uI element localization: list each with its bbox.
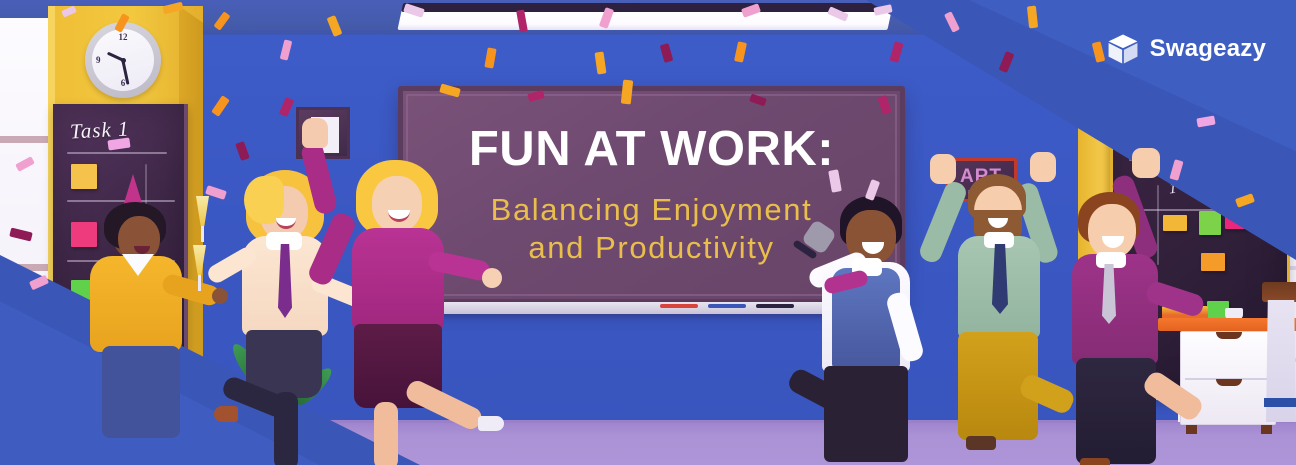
legs-jeans (102, 346, 180, 438)
marker-black (756, 304, 794, 308)
clock-numeral-12: 12 (119, 32, 128, 42)
necktie (992, 244, 1008, 314)
drawer-handle[interactable] (1216, 379, 1242, 386)
board-rule (67, 152, 167, 154)
face (1088, 204, 1136, 258)
light-tube (397, 10, 891, 30)
marker-blue (708, 304, 746, 308)
person-man-bearded-green (930, 166, 1070, 465)
person-man-microphone (800, 196, 940, 464)
champagne-glass-stem (198, 275, 201, 291)
person-woman-magenta-blazer (330, 164, 490, 444)
leg-standing (374, 402, 398, 465)
shelf-divider (0, 136, 54, 143)
shoe (214, 406, 238, 422)
shoe (478, 416, 504, 431)
hand (212, 288, 228, 304)
trousers (824, 366, 908, 462)
necktie (1102, 264, 1116, 324)
water-cooler-top (1262, 282, 1296, 302)
ceiling-light-fixture (397, 3, 893, 33)
torso-blazer (352, 228, 444, 330)
champagne-glass-stem (201, 226, 204, 242)
person-woman-party-hat (78, 180, 208, 430)
hand-right (482, 268, 502, 288)
face (372, 176, 422, 232)
clock-center-pin (121, 58, 126, 63)
clock-numeral-9: 9 (96, 55, 101, 65)
sticky-note (1199, 211, 1221, 235)
brand-logo[interactable]: Swageazy (1106, 32, 1266, 66)
person-man-purple-shirt (1058, 170, 1198, 465)
light-housing (401, 3, 893, 12)
shoe (1080, 458, 1110, 465)
clock-numeral-6: 6 (121, 78, 126, 88)
clock-face: 12 9 6 (92, 29, 154, 91)
fun-at-work-banner: 12 9 6 Task 1 Task 2 1 2 (0, 0, 1296, 465)
wall-clock: 12 9 6 (85, 22, 161, 98)
water-cooler-band (1264, 398, 1296, 407)
hand-raised-right (1030, 152, 1056, 182)
trousers (1076, 358, 1156, 464)
hand-raised (1132, 148, 1160, 178)
box-cube-icon (1106, 32, 1140, 66)
shoe (966, 436, 996, 450)
drawer-handle[interactable] (1216, 332, 1242, 339)
hand-raised (302, 118, 328, 148)
drawer-leg (1261, 425, 1272, 434)
hair-front (244, 176, 284, 224)
marker-red (660, 304, 698, 308)
brand-wordmark: Swageazy (1150, 35, 1266, 63)
sticky-note (1201, 253, 1225, 271)
hand-raised-left (930, 154, 956, 184)
